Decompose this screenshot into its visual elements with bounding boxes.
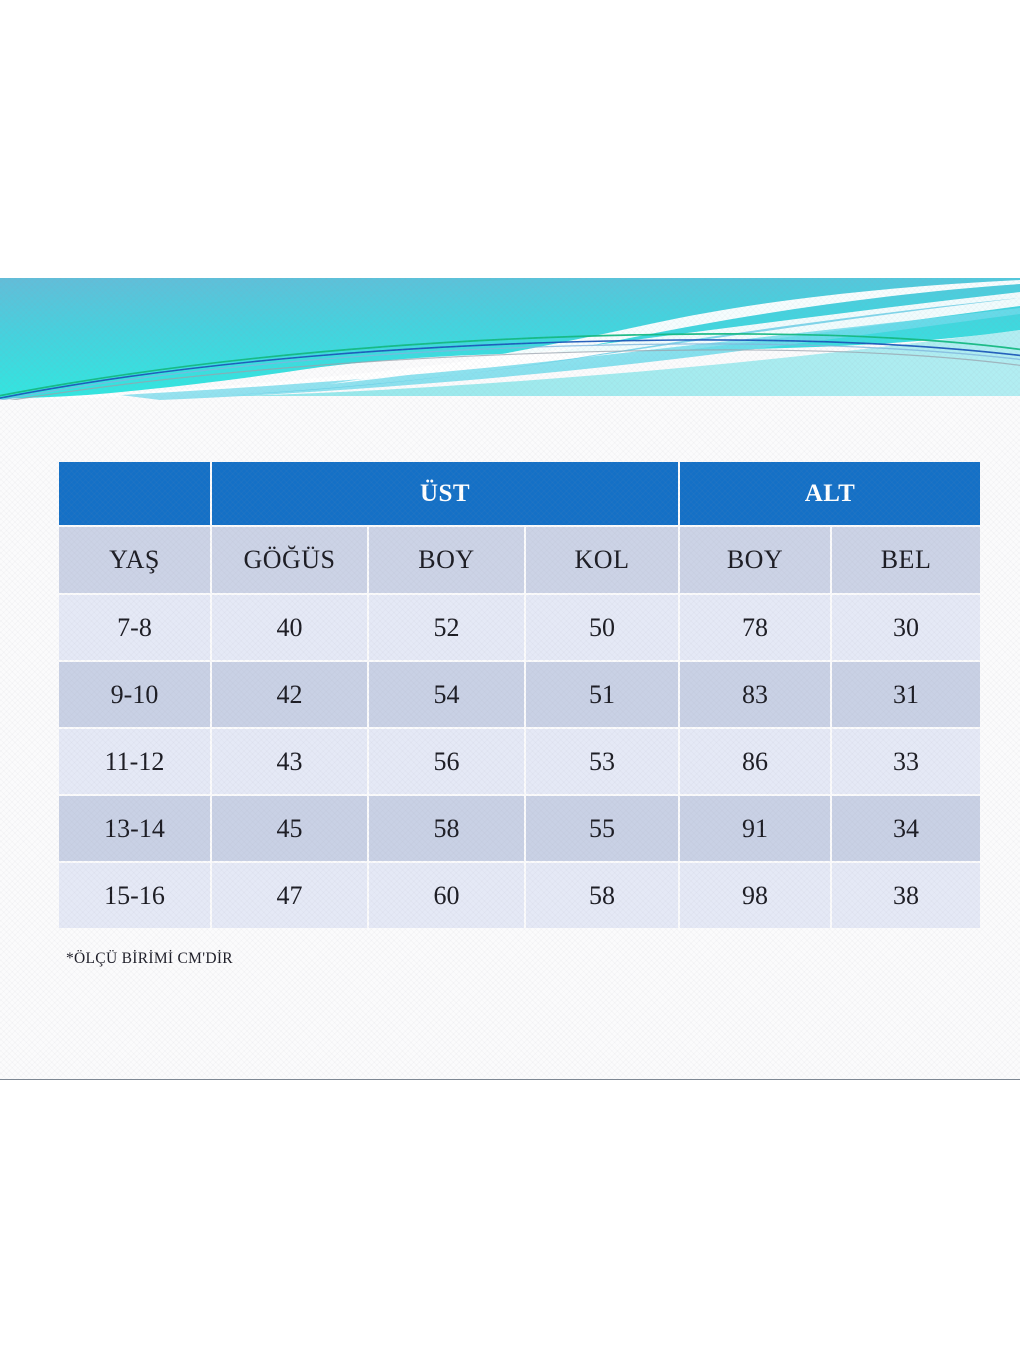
cell-boy-ust: 56 — [369, 729, 524, 794]
cell-boy-alt: 78 — [680, 595, 830, 660]
cell-yas: 15-16 — [59, 863, 210, 928]
group-header-ust: ÜST — [212, 462, 678, 525]
cell-yas: 13-14 — [59, 796, 210, 861]
size-chart: ÜST ALT YAŞ GÖĞÜS BOY KOL BOY BEL 7-8 40… — [57, 460, 970, 930]
size-table: ÜST ALT YAŞ GÖĞÜS BOY KOL BOY BEL 7-8 40… — [57, 460, 982, 930]
table-row: 9-10 42 54 51 83 31 — [59, 662, 980, 727]
cell-gogus: 42 — [212, 662, 367, 727]
cell-boy-alt: 83 — [680, 662, 830, 727]
cell-gogus: 47 — [212, 863, 367, 928]
column-header-boy-ust: BOY — [369, 527, 524, 593]
group-header-alt: ALT — [680, 462, 980, 525]
decorative-wave-banner — [0, 278, 1020, 400]
table-row: 13-14 45 58 55 91 34 — [59, 796, 980, 861]
cell-boy-alt: 98 — [680, 863, 830, 928]
cell-bel: 33 — [832, 729, 980, 794]
cell-boy-alt: 86 — [680, 729, 830, 794]
measurement-unit-note: *ÖLÇÜ BİRİMİ CM'DİR — [66, 950, 233, 968]
cell-bel: 30 — [832, 595, 980, 660]
column-header-gogus: GÖĞÜS — [212, 527, 367, 593]
cell-bel: 34 — [832, 796, 980, 861]
table-row: 7-8 40 52 50 78 30 — [59, 595, 980, 660]
cell-yas: 9-10 — [59, 662, 210, 727]
group-header-blank — [59, 462, 210, 525]
table-row: 11-12 43 56 53 86 33 — [59, 729, 980, 794]
cell-boy-ust: 58 — [369, 796, 524, 861]
cell-gogus: 40 — [212, 595, 367, 660]
column-header-kol: KOL — [526, 527, 678, 593]
cell-boy-ust: 60 — [369, 863, 524, 928]
table-column-header-row: YAŞ GÖĞÜS BOY KOL BOY BEL — [59, 527, 980, 593]
cell-gogus: 43 — [212, 729, 367, 794]
cell-kol: 58 — [526, 863, 678, 928]
cell-kol: 51 — [526, 662, 678, 727]
cell-yas: 7-8 — [59, 595, 210, 660]
cell-yas: 11-12 — [59, 729, 210, 794]
cell-kol: 55 — [526, 796, 678, 861]
cell-gogus: 45 — [212, 796, 367, 861]
cell-boy-alt: 91 — [680, 796, 830, 861]
column-header-yas: YAŞ — [59, 527, 210, 593]
table-group-header-row: ÜST ALT — [59, 462, 980, 525]
table-row: 15-16 47 60 58 98 38 — [59, 863, 980, 928]
cell-kol: 50 — [526, 595, 678, 660]
column-header-boy-alt: BOY — [680, 527, 830, 593]
cell-bel: 31 — [832, 662, 980, 727]
cell-boy-ust: 52 — [369, 595, 524, 660]
cell-kol: 53 — [526, 729, 678, 794]
cell-bel: 38 — [832, 863, 980, 928]
cell-boy-ust: 54 — [369, 662, 524, 727]
slide-canvas: ÜST ALT YAŞ GÖĞÜS BOY KOL BOY BEL 7-8 40… — [0, 278, 1020, 1080]
column-header-bel: BEL — [832, 527, 980, 593]
